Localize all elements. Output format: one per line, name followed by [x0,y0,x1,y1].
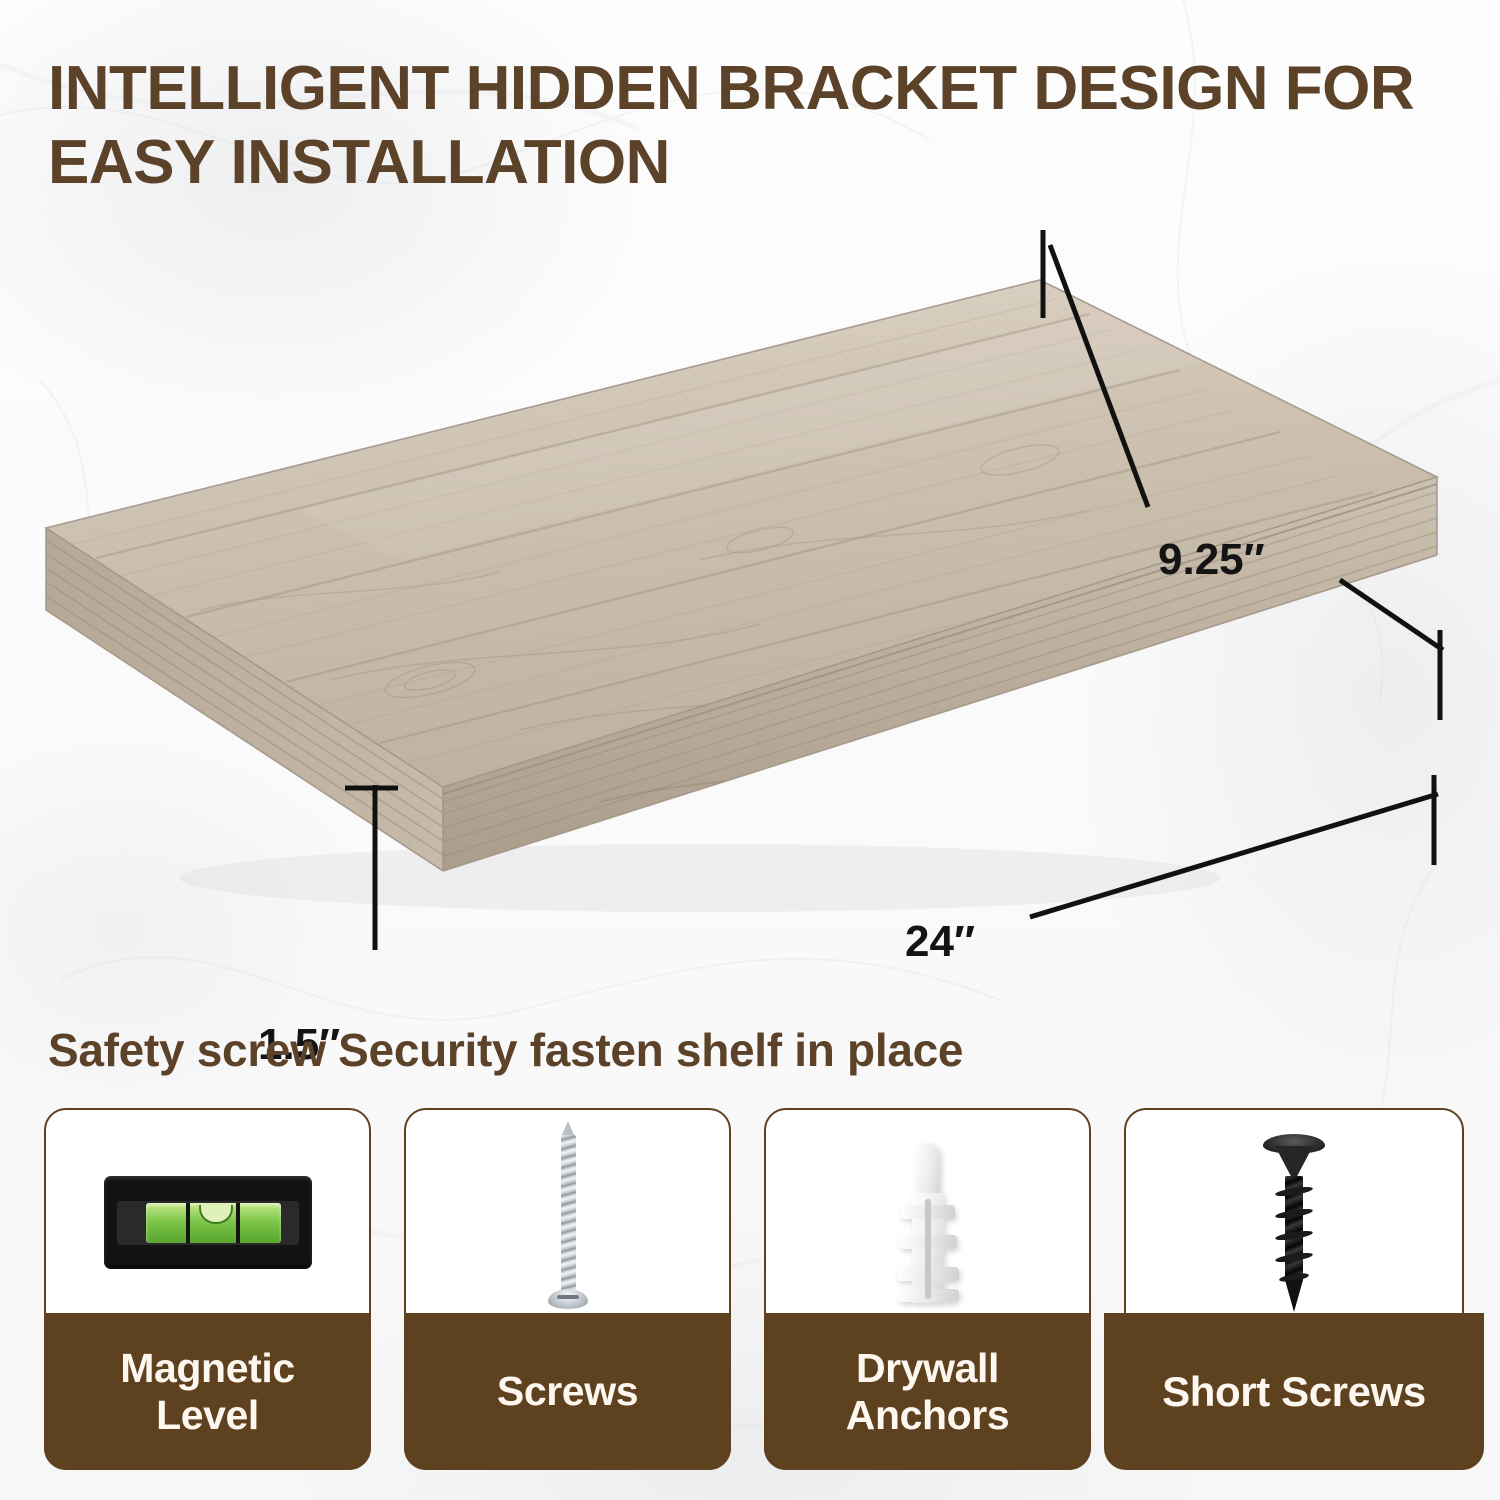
short-screw-icon [1263,1134,1325,1312]
card-label-line1: Magnetic [114,1345,301,1391]
card-label: Short Screws [1156,1368,1432,1415]
card-label-band: Screws [404,1313,731,1470]
card-label: Screws [491,1368,644,1415]
card-media [46,1110,369,1335]
accessories-card-row: Magnetic Level Screws [0,1108,1500,1488]
drywall-anchor-icon [897,1143,959,1303]
card-label: Magnetic Level [108,1345,307,1439]
card-label-band: Magnetic Level [44,1313,371,1470]
level-vial-icon [146,1203,281,1243]
level-bubble-icon [199,1205,233,1224]
dimension-label-width: 24″ [905,917,975,967]
magnetic-level-icon [104,1176,312,1269]
card-media [1126,1110,1462,1335]
card-label-line1: Drywall [850,1345,1005,1391]
product-illustration: 9.25″ 24″ 1.5″ [0,210,1500,950]
anchor-slot-icon [925,1199,931,1299]
card-media [766,1110,1089,1335]
card-label-line2: Level [150,1392,265,1438]
screw-tip-icon [1285,1280,1303,1312]
card-label-band: Short Screws [1104,1313,1484,1470]
long-screw-icon [549,1117,587,1329]
card-label-line2: Anchors [840,1392,1016,1438]
card-label-band: Drywall Anchors [764,1313,1091,1470]
infographic-page: INTELLIGENT HIDDEN BRACKET DESIGN FOR EA… [0,0,1500,1500]
accessory-card-drywall-anchors[interactable]: Drywall Anchors [764,1108,1091,1470]
card-media [406,1110,729,1335]
shelf-3d-drawing [0,210,1500,950]
accessory-card-magnetic-level[interactable]: Magnetic Level [44,1108,371,1470]
screw-head-icon [548,1289,588,1309]
accessory-card-short-screws[interactable]: Short Screws [1124,1108,1464,1470]
anchor-tip-icon [916,1143,940,1201]
dimension-label-depth: 9.25″ [1158,535,1265,585]
card-label: Drywall Anchors [834,1345,1022,1439]
screw-shaft-icon [561,1135,576,1295]
accessory-card-screws[interactable]: Screws [404,1108,731,1470]
section-subtitle: Safety screw Security fasten shelf in pl… [48,1022,1348,1078]
page-title: INTELLIGENT HIDDEN BRACKET DESIGN FOR EA… [48,52,1468,200]
